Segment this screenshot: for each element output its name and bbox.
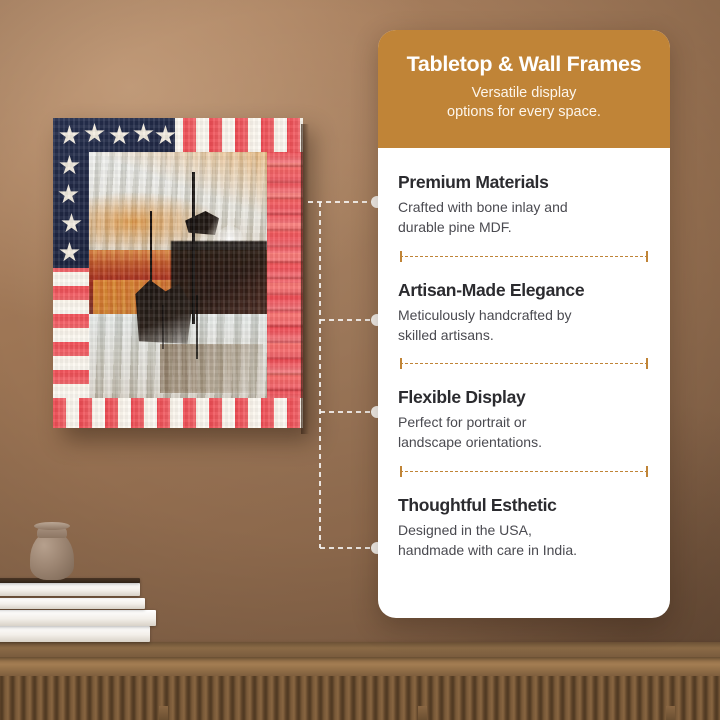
flag-star-icon [61,213,82,234]
divider-cap-right [646,466,648,477]
sideboard-divider [418,706,427,720]
flag-star-icon [133,123,154,144]
book [0,583,140,596]
feature-item: Artisan-Made Elegance Meticulously handc… [398,270,650,346]
feature-desc-line1: Perfect for portrait or [398,413,650,433]
panel-subtitle: Versatile display options for every spac… [396,84,652,122]
sideboard-top [0,642,720,657]
stacked-books [0,576,150,642]
painting-texture [89,152,267,398]
feature-description: Designed in the USA, handmade with care … [398,521,650,561]
fluted-wood-sideboard [0,642,720,720]
vase-lip [34,522,70,530]
panel-header: Tabletop & Wall Frames Versatile display… [378,30,670,148]
frame-shadow-edge [301,124,309,434]
american-flag-frame [53,118,303,428]
feature-item: Thoughtful Esthetic Designed in the USA,… [398,485,650,561]
feature-desc-line1: Designed in the USA, [398,521,650,541]
feature-divider [398,353,650,375]
book [0,610,156,626]
page-title: Tabletop & Wall Frames [396,52,652,77]
sideboard-body [0,674,720,720]
flag-star-icon [84,123,105,144]
panel-body: Premium Materials Crafted with bone inla… [378,148,670,618]
panel-subtitle-line1: Versatile display [396,84,652,103]
feature-description: Crafted with bone inlay and durable pine… [398,198,650,238]
feature-description: Meticulously handcrafted by skilled arti… [398,306,650,346]
sideboard-rail [0,655,720,676]
feature-desc-line2: durable pine MDF. [398,218,650,238]
sideboard-divider [666,706,675,720]
feature-item: Flexible Display Perfect for portrait or… [398,377,650,453]
feature-desc-line2: handmade with care in India. [398,541,650,561]
book [0,626,150,642]
divider-line [400,471,648,472]
divider-cap-right [646,251,648,262]
book [0,598,145,609]
abstract-harbor-painting [89,152,267,398]
feature-panel: Tabletop & Wall Frames Versatile display… [378,30,670,618]
ceramic-vase [28,520,76,580]
feature-desc-line2: skilled artisans. [398,326,650,346]
vase-body [30,532,74,580]
flag-star-icon [59,242,80,263]
framed-artwork [53,118,303,428]
sideboard-slats [0,674,720,720]
feature-desc-line2: landscape orientations. [398,433,650,453]
feature-title: Flexible Display [398,387,650,408]
divider-line [400,256,648,257]
feature-title: Artisan-Made Elegance [398,280,650,301]
feature-divider [398,461,650,483]
flag-star-icon [109,125,130,146]
frame-stripes-bottom [53,398,303,428]
feature-title: Thoughtful Esthetic [398,495,650,516]
frame-stripes-right [267,118,303,428]
feature-item: Premium Materials Crafted with bone inla… [398,162,650,238]
divider-cap-right [646,358,648,369]
panel-subtitle-line2: options for every space. [396,103,652,122]
feature-description: Perfect for portrait or landscape orient… [398,413,650,453]
feature-divider [398,246,650,268]
sideboard-divider [159,706,168,720]
feature-desc-line1: Meticulously handcrafted by [398,306,650,326]
divider-line [400,363,648,364]
flag-star-icon [58,184,79,205]
feature-desc-line1: Crafted with bone inlay and [398,198,650,218]
flag-star-icon [59,155,80,176]
feature-title: Premium Materials [398,172,650,193]
flag-star-icon [155,125,176,146]
room-scene: Tabletop & Wall Frames Versatile display… [0,0,720,720]
flag-star-icon [59,125,80,146]
